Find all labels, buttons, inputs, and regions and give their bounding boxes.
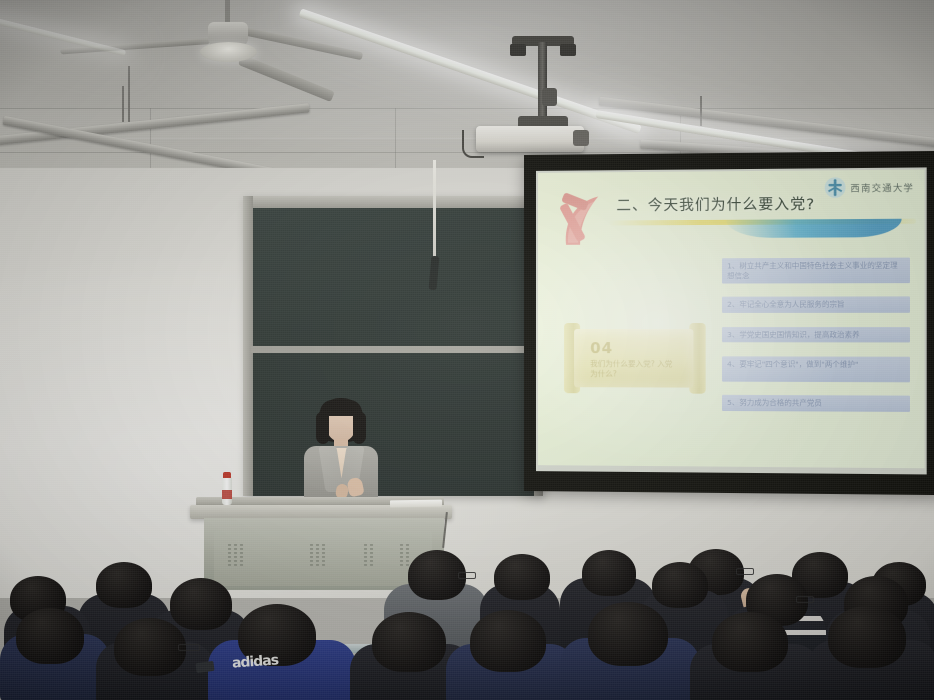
slide-bullet: 5、努力成为合格的共产党员 [722, 395, 910, 412]
scroll-subtitle: 我们为什么要入党? 入党为什么? [590, 359, 679, 379]
slide-bullet: 2、牢记全心全意为人民服务的宗旨 [722, 296, 910, 312]
student-glasses [796, 596, 814, 603]
projector-body [476, 126, 584, 152]
student-head [652, 562, 708, 608]
lectern-documents[interactable] [390, 500, 442, 508]
presentation-slide: 二、今天我们为什么要入党? 西南交通大学 [538, 170, 925, 469]
slide-scroll-banner: 04 我们为什么要入党? 入党为什么? [564, 323, 706, 396]
university-name: 西南交通大学 [850, 180, 914, 194]
student-head [114, 618, 186, 676]
student-head [470, 610, 546, 672]
light-rail-hanger [128, 66, 130, 122]
lecture-hall-photo: 二、今天我们为什么要入党? 西南交通大学 [0, 0, 934, 700]
slide-bullet-list: 1、树立共产主义和中国特色社会主义事业的坚定理想信念 2、牢记全心全意为人民服务… [722, 258, 910, 412]
projector-lens [573, 130, 589, 146]
projector-collar [542, 88, 557, 106]
projector-mount-foot [510, 44, 526, 56]
student-glasses [178, 644, 200, 651]
lectern-top [190, 505, 452, 519]
audience-area: adidas [0, 548, 934, 700]
student-head [588, 602, 668, 666]
student-glasses [736, 568, 754, 575]
slide-bullet: 3、学党史国史国情知识，提高政治素养 [722, 327, 910, 343]
projection-screen: 二、今天我们为什么要入党? 西南交通大学 [524, 151, 934, 495]
student-head [828, 606, 906, 668]
blackboard [243, 196, 543, 496]
scroll-number: 04 [590, 339, 613, 357]
presenter-hair-right [353, 412, 366, 444]
student-head [494, 554, 550, 600]
student-head [96, 562, 152, 608]
swjtu-logo-icon [824, 176, 847, 199]
slide-title: 二、今天我们为什么要入党? [616, 193, 815, 216]
university-logo: 西南交通大学 [824, 176, 915, 199]
water-bottle-cap [223, 472, 231, 478]
ceiling-fan-light [200, 42, 257, 62]
projection-screen-surface: 二、今天我们为什么要入党? 西南交通大学 [536, 167, 927, 474]
projector-mount-foot [560, 44, 576, 56]
water-bottle-label [222, 490, 232, 499]
student-head [712, 612, 788, 672]
student-head [372, 612, 446, 672]
student-head [170, 578, 232, 630]
student-head [16, 608, 84, 664]
projector-pole [538, 42, 547, 120]
slide-bullet: 4、要牢记"四个意识"，做到"两个维护" [722, 356, 910, 382]
presenter-hair-left [316, 412, 329, 444]
apparel-brand-text: adidas [231, 652, 278, 671]
light-rail-hanger [122, 86, 124, 122]
student-head [582, 550, 636, 596]
screen-pull-cord[interactable] [433, 160, 436, 260]
slide-bullet: 1、树立共产主义和中国特色社会主义事业的坚定理想信念 [722, 258, 910, 284]
light-rail-hanger [700, 96, 702, 126]
blackboard-divider [251, 346, 535, 353]
slide-accent-swoosh [726, 219, 902, 238]
projector-cable [462, 130, 484, 158]
student-glasses [458, 572, 476, 579]
blackboard-frame-top [243, 196, 543, 208]
